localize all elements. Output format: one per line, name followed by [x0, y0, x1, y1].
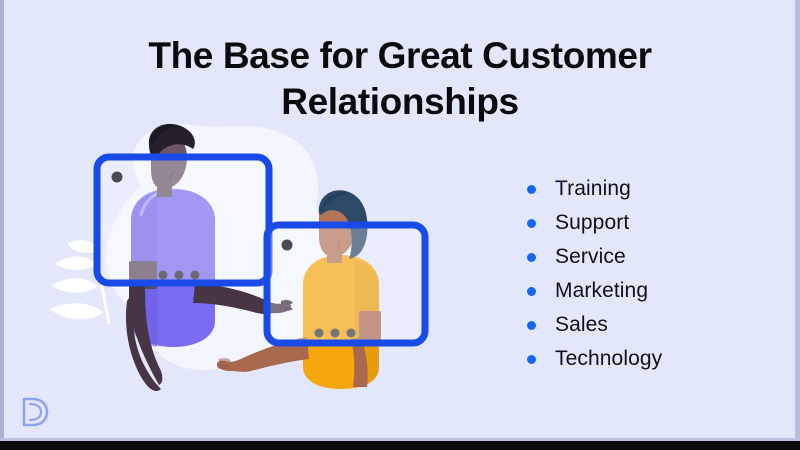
brand-logo-d-icon[interactable]	[20, 396, 50, 428]
list-item[interactable]: Support	[527, 206, 662, 240]
bullet-label: Training	[555, 177, 631, 201]
list-item[interactable]: Training	[527, 172, 662, 206]
bullet-dot-icon	[527, 185, 536, 194]
bullet-dot-icon	[527, 355, 536, 364]
bullet-label: Technology	[555, 347, 662, 371]
page-title: The Base for Great Customer Relationship…	[90, 33, 710, 126]
capture-edge-bottom	[0, 441, 800, 450]
bullet-dot-icon	[527, 287, 536, 296]
list-item[interactable]: Marketing	[527, 274, 662, 308]
list-item[interactable]: Sales	[527, 308, 662, 342]
list-item[interactable]: Technology	[527, 342, 662, 376]
illustration-two-people-video-call	[45, 115, 475, 405]
bullet-label: Service	[555, 245, 626, 269]
bullet-dot-icon	[527, 219, 536, 228]
capture-edge-right	[795, 0, 800, 450]
bullet-label: Support	[555, 211, 629, 235]
video-frame-right	[267, 225, 425, 343]
title-line-1: The Base for Great Customer	[148, 35, 651, 76]
list-item[interactable]: Service	[527, 240, 662, 274]
bullet-dot-icon	[527, 321, 536, 330]
video-frame-left	[97, 157, 269, 283]
bullet-label: Marketing	[555, 279, 648, 303]
slide-canvas: The Base for Great Customer Relationship…	[0, 0, 800, 450]
capture-edge-left	[0, 0, 4, 450]
camera-indicator-dot-left	[112, 172, 123, 183]
title-line-2: Relationships	[281, 81, 518, 122]
bullet-label: Sales	[555, 313, 608, 337]
feature-bullet-list: Training Support Service Marketing Sales…	[527, 172, 662, 376]
bullet-dot-icon	[527, 253, 536, 262]
camera-indicator-dot-right	[282, 240, 293, 251]
